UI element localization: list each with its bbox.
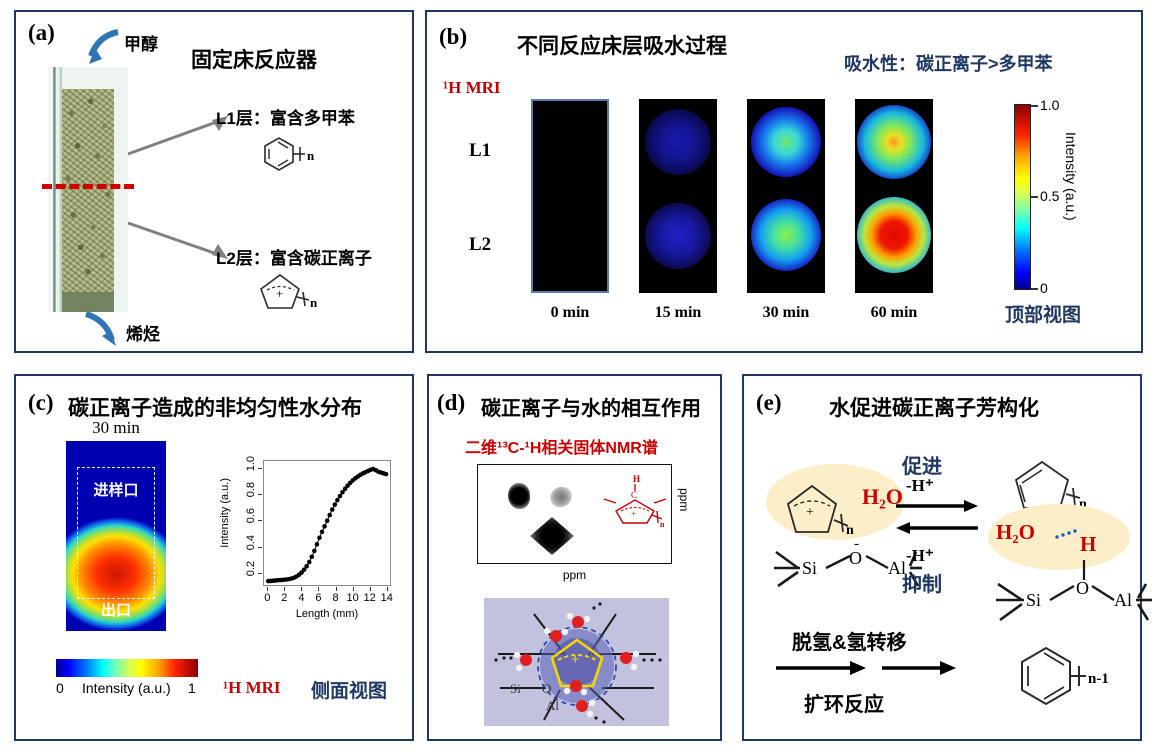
bottom-reaction-arrows-icon <box>772 658 972 680</box>
right-zeolite-site: O Si Al <box>988 546 1154 636</box>
panel-e-label: (e) <box>756 390 782 416</box>
colorbar-b-title: Intensity (a.u.) <box>1063 132 1079 221</box>
l1-layer-label: L1层：富含多甲苯 <box>216 104 355 129</box>
panel-d-carbenium-water-interaction: (d) 碳正离子与水的相互作用 二维¹³C-¹H相关固体NMR谱 H C + n… <box>427 374 722 741</box>
nmr-peak-2 <box>546 483 575 511</box>
bottom-reaction-bottom-label: 扩环反应 <box>804 688 884 717</box>
panel-b-note: 吸水性：碳正离子>多甲苯 <box>844 50 1053 76</box>
zeolite-model-svg: + Si O - Al <box>484 598 669 726</box>
colorbar-b <box>1014 104 1031 290</box>
chart-x-tick-0: 0 <box>258 592 276 604</box>
catalyst-bed <box>62 89 114 292</box>
panel-a-title: 固定床反应器 <box>191 44 317 74</box>
chart-y-tick-0.4: 0.4 <box>245 535 257 550</box>
right-o-label: O <box>1076 578 1089 598</box>
panel-b-technique-label: ¹H MRI <box>443 78 501 98</box>
chart-y-tickmark <box>258 468 262 469</box>
chart-x-tick-12: 12 <box>361 592 379 604</box>
chart-x-tick-2: 2 <box>275 592 293 604</box>
panel-b-label: (b) <box>439 24 467 50</box>
panel-c-label: (c) <box>28 390 54 416</box>
l2-layer-label: L2层：富含碳正离子 <box>216 244 372 269</box>
zeolite-charge-plus: + <box>571 652 580 668</box>
panel-c-technique-label: ¹H MRI <box>223 678 281 698</box>
product-subscript: n-1 <box>1088 671 1109 687</box>
panel-d-label: (d) <box>437 390 465 416</box>
polymethylbenzene-structure-icon: n <box>251 132 321 184</box>
chart-x-tickmark <box>336 587 337 591</box>
colorbar-c-max: 1 <box>188 680 196 696</box>
forward-reagent-label: -H⁺ <box>906 476 934 496</box>
colorbar-b-tick-0p5 <box>1031 196 1038 198</box>
panel-c-view-label: 侧面视图 <box>311 676 387 703</box>
reverse-condition-label: 抑制 <box>902 568 942 597</box>
chart-x-tickmark <box>370 587 371 591</box>
reverse-reagent-label: -H⁺ <box>906 546 934 566</box>
panel-b-water-uptake-mri: (b) 不同反应床层吸水过程 吸水性：碳正离子>多甲苯 ¹H MRI L1 L2… <box>425 10 1143 353</box>
chart-y-axis-label: Intensity (a.u.) <box>219 478 231 548</box>
chart-x-tickmark <box>301 587 302 591</box>
chart-x-tick-4: 4 <box>292 592 310 604</box>
l2-structure-subscript: n <box>310 295 318 310</box>
colorbar-b-label-1: 1.0 <box>1040 97 1059 113</box>
carbenium-ion-structure-icon: + n <box>251 270 323 322</box>
chart-x-tickmark <box>353 587 354 591</box>
nmr-y-axis-label: ppm <box>677 488 691 511</box>
outlet-label-c: 出口 <box>66 599 166 620</box>
mri-image-0min <box>531 99 609 293</box>
panel-d-title: 碳正离子与水的相互作用 <box>481 392 701 421</box>
panel-a-label: (a) <box>28 20 55 46</box>
nmr-struct-charge: + <box>631 509 636 519</box>
l2-structure-charge: + <box>276 286 283 301</box>
intensity-profile-chart: Intensity (a.u.) 0.20.40.60.81.0 0246810… <box>221 456 401 631</box>
nmr-struct-n: n <box>660 520 665 529</box>
zeolite-water-model: + Si O - Al <box>484 598 669 726</box>
panel-b-view-label: 顶部视图 <box>1005 300 1081 327</box>
zeolite-o-charge: - <box>552 671 556 683</box>
panel-e-title: 水促进碳正离子芳构化 <box>829 392 1039 422</box>
mri-image-15min <box>639 99 717 293</box>
chart-x-tick-6: 6 <box>309 592 327 604</box>
left-o-charge: - <box>854 536 859 552</box>
chart-y-tickmark <box>258 494 262 495</box>
timepoint-0min: 0 min <box>525 304 615 322</box>
chart-y-tick-0.2: 0.2 <box>245 561 257 576</box>
timepoint-30min: 30 min <box>741 304 831 322</box>
nmr-2d-spectrum: H C + n <box>477 464 672 564</box>
chart-x-tickmark <box>387 587 388 591</box>
reactor-tube-image <box>48 67 128 312</box>
chart-series-points <box>264 461 392 587</box>
mri-image-60min <box>855 99 933 293</box>
panel-b-title: 不同反应床层吸水过程 <box>517 30 727 60</box>
timepoint-15min: 15 min <box>633 304 723 322</box>
right-water-label: H₂O <box>996 520 1035 545</box>
layer-divider-dashed-line <box>42 184 134 189</box>
inlet-arrow-icon <box>78 28 126 70</box>
nmr-x-axis-label: ppm <box>477 568 672 582</box>
chart-y-tickmark <box>258 573 262 574</box>
panel-a-fixed-bed-reactor: (a) 固定床反应器 甲醇 L1层：富含多甲苯 n L2层：富含碳正离子 + <box>14 10 414 353</box>
water-molecule-6 <box>576 700 595 717</box>
zeolite-o-label: O <box>542 681 551 696</box>
colorbar-b-tick-1 <box>1031 105 1038 107</box>
nmr-peak-1 <box>508 483 530 509</box>
nmr-struct-c: C <box>631 490 637 500</box>
chart-x-axis-label: Length (mm) <box>263 608 391 620</box>
zeolite-si-label: Si <box>510 681 521 696</box>
colorbar-c <box>56 659 198 677</box>
right-si-label: Si <box>1026 590 1041 610</box>
colorbar-c-min: 0 <box>56 680 64 696</box>
panel-c-mri-time: 30 min <box>66 418 166 438</box>
chart-x-tickmark <box>267 587 268 591</box>
colorbar-b-label-0: 0 <box>1040 280 1048 296</box>
chart-x-tickmark <box>318 587 319 591</box>
mri-image-30min <box>747 99 825 293</box>
right-al-label: Al <box>1114 590 1132 610</box>
chart-y-tick-1: 1.0 <box>245 456 257 471</box>
timepoint-60min: 60 min <box>849 304 939 322</box>
chart-y-tickmark <box>258 547 262 548</box>
chart-y-tick-0.6: 0.6 <box>245 508 257 523</box>
row-label-l2: L2 <box>469 234 491 256</box>
forward-condition-label: 促进 <box>902 450 942 479</box>
colorbar-c-title: Intensity (a.u.) <box>82 680 171 696</box>
outlet-label: 烯烃 <box>126 320 160 345</box>
water-molecule-1 <box>567 613 590 628</box>
colorbar-b-label-0p5: 0.5 <box>1040 188 1059 204</box>
panel-d-subtitle: 二维¹³C-¹H相关固体NMR谱 <box>465 434 658 458</box>
chart-x-tick-14: 14 <box>378 592 396 604</box>
outlet-arrow-icon <box>78 310 126 350</box>
row-label-l1: L1 <box>469 140 491 162</box>
equilibrium-arrows-icon <box>892 498 982 544</box>
zeolite-al-label: Al <box>546 698 559 713</box>
chart-x-tick-8: 8 <box>327 592 345 604</box>
bottom-reaction-top-label: 脱氢&氢转移 <box>792 626 906 655</box>
panel-e-water-promoted-aromatization: (e) 水促进碳正离子芳构化 + n H₂O O - Si Al 促进 -H⁺ … <box>742 374 1142 741</box>
water-molecule-4 <box>620 651 639 670</box>
inlet-label-c: 进样口 <box>66 479 166 500</box>
inlet-label: 甲醇 <box>124 30 158 55</box>
chart-y-tick-0.8: 0.8 <box>245 482 257 497</box>
chart-x-tick-10: 10 <box>344 592 362 604</box>
colorbar-b-tick-0 <box>1031 288 1038 290</box>
panel-c-nonuniform-water-distribution: (c) 碳正离子造成的非均匀性水分布 30 min 进样口 出口 Intensi… <box>14 374 414 741</box>
nmr-struct-h: H <box>633 474 640 484</box>
chart-x-tickmark <box>284 587 285 591</box>
left-charge-plus: + <box>806 505 814 520</box>
left-si-label: Si <box>802 558 817 578</box>
mri-side-view-image: 进样口 出口 <box>66 441 166 631</box>
l1-structure-subscript: n <box>307 148 315 163</box>
chart-plot-area <box>263 460 391 586</box>
aromatic-product-structure-icon: n-1 <box>1002 638 1132 713</box>
nmr-peak-3 <box>530 517 574 555</box>
chart-y-tickmark <box>258 520 262 521</box>
carbenium-structure-red-icon: H C + n <box>600 473 670 529</box>
